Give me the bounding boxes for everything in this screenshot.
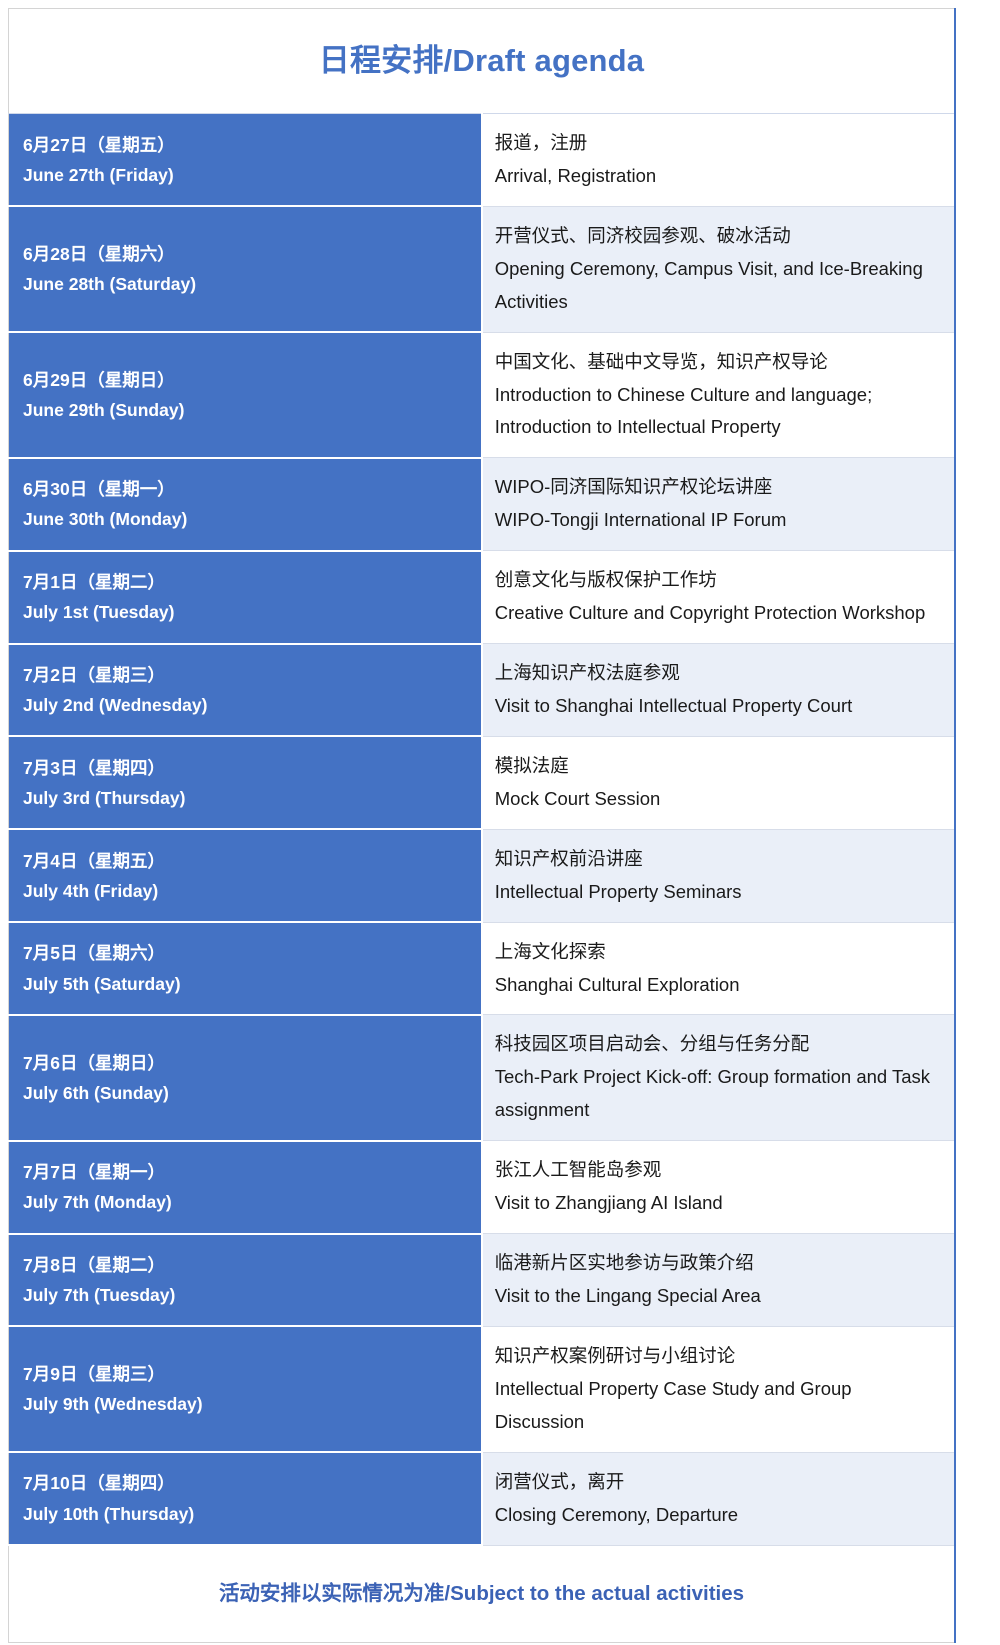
date-cell: 6月30日（星期一）June 30th (Monday): [9, 458, 482, 551]
table-row: 7月2日（星期三）July 2nd (Wednesday)上海知识产权法庭参观V…: [9, 644, 956, 737]
event-text-en: Visit to Zhangjiang AI Island: [495, 1187, 938, 1220]
date-label-cn: 7月4日（星期五）: [23, 846, 481, 876]
date-label-cn: 7月7日（星期一）: [23, 1157, 481, 1187]
date-cell: 7月10日（星期四）July 10th (Thursday): [9, 1452, 482, 1545]
date-label-en: June 30th (Monday): [23, 504, 481, 534]
table-row: 7月10日（星期四）July 10th (Thursday)闭营仪式，离开Clo…: [9, 1452, 956, 1545]
table-row: 7月5日（星期六）July 5th (Saturday)上海文化探索Shangh…: [9, 922, 956, 1015]
date-cell: 7月6日（星期日）July 6th (Sunday): [9, 1015, 482, 1141]
event-text-cn: 开营仪式、同济校园参观、破冰活动: [495, 220, 938, 253]
event-text-cn: 知识产权案例研讨与小组讨论: [495, 1340, 938, 1373]
date-label-cn: 7月2日（星期三）: [23, 660, 481, 690]
event-text-cn: 创意文化与版权保护工作坊: [495, 564, 938, 597]
footer-row: 活动安排以实际情况为准/Subject to the actual activi…: [9, 1545, 956, 1643]
event-text-en: Opening Ceremony, Campus Visit, and Ice-…: [495, 253, 938, 319]
table-row: 7月3日（星期四）July 3rd (Thursday)模拟法庭Mock Cou…: [9, 736, 956, 829]
agenda-container: 日程安排/Draft agenda 6月27日（星期五）June 27th (F…: [0, 0, 1000, 1645]
date-label-cn: 7月3日（星期四）: [23, 753, 481, 783]
date-cell: 7月8日（星期二）July 7th (Tuesday): [9, 1234, 482, 1327]
event-text-en: Mock Court Session: [495, 783, 938, 816]
date-label-cn: 7月8日（星期二）: [23, 1250, 481, 1280]
event-cell: 科技园区项目启动会、分组与任务分配Tech-Park Project Kick-…: [482, 1015, 955, 1141]
table-row: 7月1日（星期二）July 1st (Tuesday)创意文化与版权保护工作坊C…: [9, 551, 956, 644]
date-label-en: July 2nd (Wednesday): [23, 690, 481, 720]
event-cell: 上海文化探索Shanghai Cultural Exploration: [482, 922, 955, 1015]
event-text-en: WIPO-Tongji International IP Forum: [495, 504, 938, 537]
date-cell: 6月27日（星期五）June 27th (Friday): [9, 114, 482, 207]
event-cell: WIPO-同济国际知识产权论坛讲座WIPO-Tongji Internation…: [482, 458, 955, 551]
event-cell: 临港新片区实地参访与政策介绍Visit to the Lingang Speci…: [482, 1234, 955, 1327]
table-row: 6月29日（星期日）June 29th (Sunday)中国文化、基础中文导览，…: [9, 332, 956, 458]
table-row: 7月4日（星期五）July 4th (Friday)知识产权前沿讲座Intell…: [9, 829, 956, 922]
date-cell: 7月4日（星期五）July 4th (Friday): [9, 829, 482, 922]
event-text-en: Arrival, Registration: [495, 160, 938, 193]
date-cell: 7月3日（星期四）July 3rd (Thursday): [9, 736, 482, 829]
date-label-en: July 9th (Wednesday): [23, 1389, 481, 1419]
table-row: 7月7日（星期一）July 7th (Monday)张江人工智能岛参观Visit…: [9, 1141, 956, 1234]
date-label-en: June 28th (Saturday): [23, 269, 481, 299]
date-cell: 7月7日（星期一）July 7th (Monday): [9, 1141, 482, 1234]
date-label-en: July 7th (Tuesday): [23, 1280, 481, 1310]
event-text-cn: 张江人工智能岛参观: [495, 1154, 938, 1187]
event-text-en: Shanghai Cultural Exploration: [495, 969, 938, 1002]
date-label-cn: 7月10日（星期四）: [23, 1468, 481, 1498]
title-cell: 日程安排/Draft agenda: [9, 9, 956, 114]
event-cell: 知识产权案例研讨与小组讨论Intellectual Property Case …: [482, 1326, 955, 1452]
date-label-cn: 7月5日（星期六）: [23, 938, 481, 968]
table-row: 7月9日（星期三）July 9th (Wednesday)知识产权案例研讨与小组…: [9, 1326, 956, 1452]
date-label-cn: 7月9日（星期三）: [23, 1359, 481, 1389]
event-cell: 报道，注册Arrival, Registration: [482, 114, 955, 207]
event-text-en: Tech-Park Project Kick-off: Group format…: [495, 1061, 938, 1127]
date-cell: 7月9日（星期三）July 9th (Wednesday): [9, 1326, 482, 1452]
event-text-cn: 闭营仪式，离开: [495, 1466, 938, 1499]
date-label-en: July 3rd (Thursday): [23, 783, 481, 813]
page-title: 日程安排/Draft agenda: [319, 42, 645, 79]
table-row: 7月6日（星期日）July 6th (Sunday)科技园区项目启动会、分组与任…: [9, 1015, 956, 1141]
date-label-en: July 5th (Saturday): [23, 969, 481, 999]
table-row: 6月30日（星期一）June 30th (Monday)WIPO-同济国际知识产…: [9, 458, 956, 551]
event-cell: 中国文化、基础中文导览，知识产权导论Introduction to Chines…: [482, 332, 955, 458]
date-label-en: July 6th (Sunday): [23, 1078, 481, 1108]
event-cell: 张江人工智能岛参观Visit to Zhangjiang AI Island: [482, 1141, 955, 1234]
date-cell: 7月2日（星期三）July 2nd (Wednesday): [9, 644, 482, 737]
date-label-cn: 6月29日（星期日）: [23, 365, 481, 395]
event-text-cn: 中国文化、基础中文导览，知识产权导论: [495, 346, 938, 379]
event-text-cn: 知识产权前沿讲座: [495, 843, 938, 876]
event-cell: 上海知识产权法庭参观Visit to Shanghai Intellectual…: [482, 644, 955, 737]
date-label-en: June 27th (Friday): [23, 160, 481, 190]
date-label-cn: 6月30日（星期一）: [23, 474, 481, 504]
date-label-en: July 7th (Monday): [23, 1187, 481, 1217]
date-cell: 7月1日（星期二）July 1st (Tuesday): [9, 551, 482, 644]
event-text-cn: 临港新片区实地参访与政策介绍: [495, 1247, 938, 1280]
disclaimer-note: 活动安排以实际情况为准/Subject to the actual activi…: [219, 1581, 744, 1608]
date-label-cn: 6月28日（星期六）: [23, 239, 481, 269]
date-cell: 6月28日（星期六）June 28th (Saturday): [9, 206, 482, 332]
event-text-cn: WIPO-同济国际知识产权论坛讲座: [495, 471, 938, 504]
event-cell: 模拟法庭Mock Court Session: [482, 736, 955, 829]
event-cell: 知识产权前沿讲座Intellectual Property Seminars: [482, 829, 955, 922]
date-label-cn: 6月27日（星期五）: [23, 130, 481, 160]
date-label-en: July 4th (Friday): [23, 876, 481, 906]
date-label-en: June 29th (Sunday): [23, 395, 481, 425]
event-text-cn: 上海知识产权法庭参观: [495, 657, 938, 690]
event-text-en: Closing Ceremony, Departure: [495, 1499, 938, 1532]
date-label-en: July 1st (Tuesday): [23, 597, 481, 627]
title-row: 日程安排/Draft agenda: [9, 9, 956, 114]
event-text-cn: 上海文化探索: [495, 936, 938, 969]
footer-cell: 活动安排以实际情况为准/Subject to the actual activi…: [9, 1545, 956, 1643]
date-label-cn: 7月1日（星期二）: [23, 567, 481, 597]
date-label-cn: 7月6日（星期日）: [23, 1048, 481, 1078]
event-cell: 开营仪式、同济校园参观、破冰活动Opening Ceremony, Campus…: [482, 206, 955, 332]
event-text-en: Visit to Shanghai Intellectual Property …: [495, 690, 938, 723]
event-text-cn: 报道，注册: [495, 127, 938, 160]
event-cell: 闭营仪式，离开Closing Ceremony, Departure: [482, 1452, 955, 1545]
event-cell: 创意文化与版权保护工作坊Creative Culture and Copyrig…: [482, 551, 955, 644]
event-text-en: Intellectual Property Seminars: [495, 876, 938, 909]
event-text-en: Visit to the Lingang Special Area: [495, 1280, 938, 1313]
date-cell: 7月5日（星期六）July 5th (Saturday): [9, 922, 482, 1015]
event-text-cn: 科技园区项目启动会、分组与任务分配: [495, 1028, 938, 1061]
date-cell: 6月29日（星期日）June 29th (Sunday): [9, 332, 482, 458]
event-text-cn: 模拟法庭: [495, 750, 938, 783]
table-row: 6月27日（星期五）June 27th (Friday)报道，注册Arrival…: [9, 114, 956, 207]
table-row: 6月28日（星期六）June 28th (Saturday)开营仪式、同济校园参…: [9, 206, 956, 332]
date-label-en: July 10th (Thursday): [23, 1499, 481, 1529]
event-text-en: Creative Culture and Copyright Protectio…: [495, 597, 938, 630]
agenda-table-body: 日程安排/Draft agenda 6月27日（星期五）June 27th (F…: [9, 9, 956, 1643]
table-row: 7月8日（星期二）July 7th (Tuesday)临港新片区实地参访与政策介…: [9, 1234, 956, 1327]
event-text-en: Intellectual Property Case Study and Gro…: [495, 1373, 938, 1439]
event-text-en: Introduction to Chinese Culture and lang…: [495, 379, 938, 445]
draft-agenda-table: 日程安排/Draft agenda 6月27日（星期五）June 27th (F…: [8, 8, 956, 1643]
